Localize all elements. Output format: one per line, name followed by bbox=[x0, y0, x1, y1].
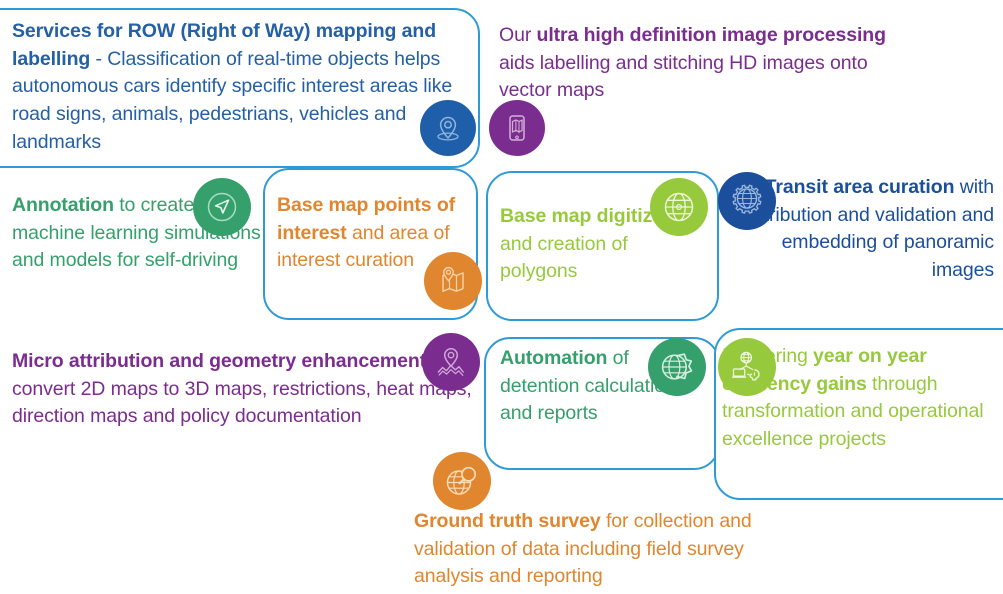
text-micro-attribution: Micro attribution and geometry enhanceme… bbox=[12, 348, 478, 431]
text-hd-pre: Our bbox=[499, 24, 537, 46]
globe-grid-icon bbox=[650, 178, 708, 236]
pin-terrain-icon bbox=[422, 333, 480, 391]
globe-polygon-icon bbox=[648, 338, 706, 396]
globe-gear-icon bbox=[718, 172, 776, 230]
text-ground-truth-lead: Ground truth survey bbox=[414, 510, 601, 532]
globe-magnifier-icon bbox=[433, 452, 491, 510]
text-automation-lead: Automation bbox=[500, 347, 607, 369]
text-ground-truth-survey: Ground truth survey for collection and v… bbox=[414, 508, 769, 591]
infographic-canvas: Services for ROW (Right of Way) mapping … bbox=[0, 0, 1003, 594]
navigation-arrow-icon bbox=[193, 178, 251, 236]
network-laptop-icon bbox=[718, 338, 776, 396]
text-hd-rest: aids labelling and stitching HD images o… bbox=[499, 52, 868, 102]
text-hd-image-processing: Our ultra high definition image processi… bbox=[499, 22, 891, 105]
location-pin-icon bbox=[420, 100, 476, 156]
text-transit-lead: Transit area curation bbox=[765, 176, 955, 198]
text-hd-lead: ultra high definition image processing bbox=[537, 24, 886, 46]
text-base-map-digitization-rest: and creation of polygons bbox=[500, 233, 628, 283]
text-row-mapping: Services for ROW (Right of Way) mapping … bbox=[12, 18, 467, 156]
text-annotation-lead: Annotation bbox=[12, 194, 114, 216]
text-micro-lead: Micro attribution and geometry enhanceme… bbox=[12, 350, 426, 372]
folded-map-pin-icon bbox=[424, 252, 482, 310]
mobile-map-icon bbox=[489, 100, 545, 156]
